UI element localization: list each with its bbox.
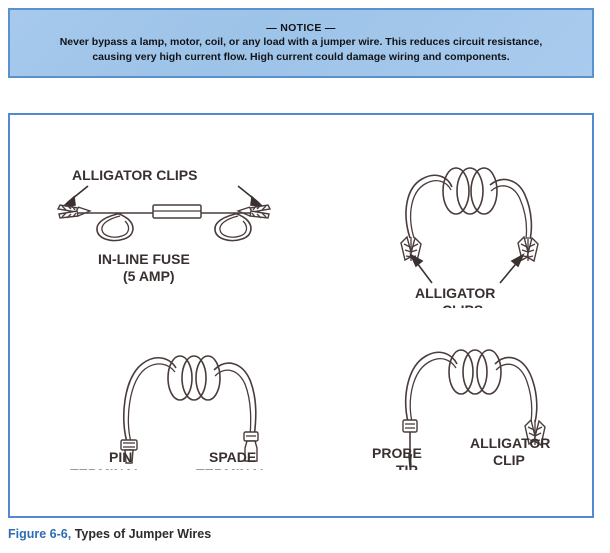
panel3-left-label-line1: PIN	[109, 449, 132, 465]
panel1-callout-label: ALLIGATOR CLIPS	[72, 167, 197, 183]
panel-alligator-clips-jumper: ALLIGATOR CLIPS	[360, 143, 580, 308]
panel1-label-line1: IN-LINE FUSE	[98, 251, 190, 267]
callout-arrow-left-icon	[64, 186, 88, 206]
alligator-clip-left-icon	[401, 237, 421, 261]
panel-inline-fuse-jumper: ALLIGATOR CLIPS	[50, 160, 300, 295]
figure-number: Figure 6-6,	[8, 527, 71, 541]
panel1-label-line2: (5 AMP)	[123, 268, 175, 284]
alligator-clip-left-icon	[58, 205, 90, 218]
panel4-right-label-line1: ALLIGATOR	[470, 435, 550, 451]
panel-pin-spade-jumper: PIN TERMINAL SPADE TERMINAL	[70, 330, 300, 470]
panel2-label-line2: CLIPS	[442, 302, 483, 308]
panel3-right-label-line2: TERMINAL	[196, 466, 269, 470]
notice-title: — NOTICE —	[266, 22, 336, 34]
figure-title: Types of Jumper Wires	[71, 527, 211, 541]
notice-banner: — NOTICE — Never bypass a lamp, motor, c…	[8, 8, 594, 78]
figure-box: ALLIGATOR CLIPS	[8, 113, 594, 518]
notice-body: Never bypass a lamp, motor, coil, or any…	[41, 35, 561, 63]
panel4-left-label-line1: PROBE	[372, 445, 422, 461]
figure-caption: Figure 6-6, Types of Jumper Wires	[8, 527, 211, 541]
panel-probe-alligator-jumper: PROBE TIP ALLIGATOR CLIP	[360, 330, 590, 470]
callout-arrow-right-icon	[238, 186, 262, 206]
callout-arrow-left-icon	[411, 255, 432, 283]
panel4-left-label-line2: TIP	[396, 462, 418, 470]
panel4-right-label-line2: CLIP	[493, 452, 525, 468]
callout-arrow-right-icon	[500, 255, 523, 283]
panel2-label-line1: ALLIGATOR	[415, 285, 495, 301]
panel3-right-label-line1: SPADE	[209, 449, 256, 465]
panel3-left-label-line2: TERMINAL	[70, 466, 143, 470]
